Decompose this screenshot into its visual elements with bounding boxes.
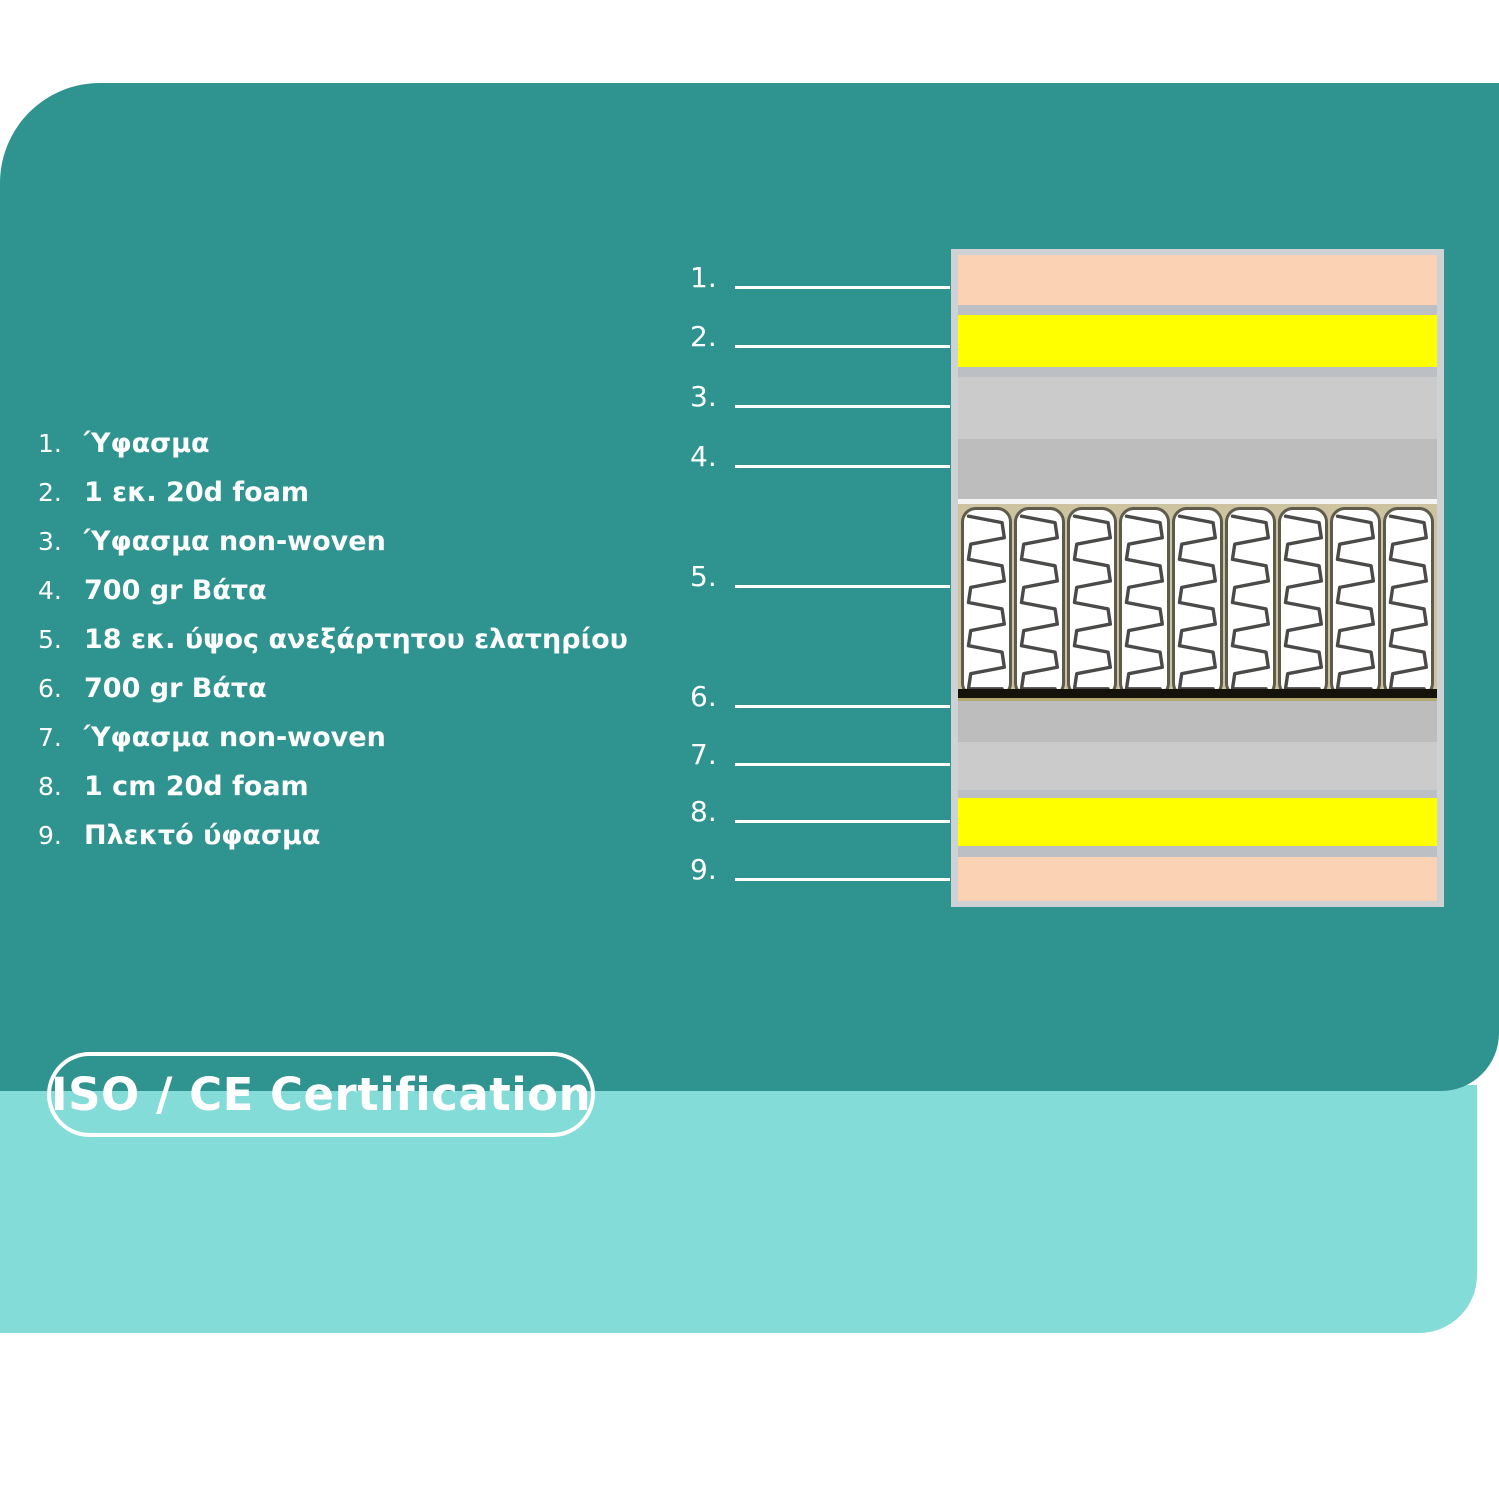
mattress-layer-wadding-top xyxy=(958,439,1437,499)
layer-list-item-number: 5. xyxy=(38,625,84,654)
callout-leader-line xyxy=(735,286,950,289)
layer-list-item-number: 4. xyxy=(38,576,84,605)
mattress-layer-nonwoven-bottom xyxy=(958,742,1437,790)
layer-list-item: 3.Ύφασμα non-woven xyxy=(38,526,638,575)
callout-leader-line xyxy=(735,465,950,468)
mattress-layer-foam-bottom xyxy=(958,798,1437,846)
callout-number: 7. xyxy=(690,741,717,769)
layer-list-item-label: 1 εκ. 20d foam xyxy=(84,477,309,508)
callout-number: 2. xyxy=(690,323,717,351)
callout-leader-line xyxy=(735,820,950,823)
mattress-layer-gap-3 xyxy=(958,790,1437,798)
callout-leader-line xyxy=(735,763,950,766)
mattress-layer-gap-2 xyxy=(958,367,1437,377)
pocket-spring xyxy=(1172,507,1223,698)
coil-spring-icon xyxy=(1228,510,1273,695)
layer-list-item-number: 3. xyxy=(38,527,84,556)
layer-list-item-number: 1. xyxy=(38,429,84,458)
callout-number: 9. xyxy=(690,856,717,884)
pocket-spring xyxy=(1225,507,1276,698)
mattress-layer-pocket-springs xyxy=(958,504,1437,698)
mattress-layer-foam-top xyxy=(958,315,1437,367)
layer-list-item-label: 1 cm 20d foam xyxy=(84,771,309,802)
layer-list-item: 6.700 gr Βάτα xyxy=(38,673,638,722)
pocket-spring xyxy=(1383,507,1434,698)
layer-list-item-number: 6. xyxy=(38,674,84,703)
mattress-cross-section-diagram xyxy=(951,249,1444,907)
callout-leader-line xyxy=(735,705,950,708)
layer-list-item-label: Ύφασμα xyxy=(84,428,210,459)
layer-list-item-label: Ύφασμα non-woven xyxy=(84,722,386,753)
callout-number: 3. xyxy=(690,383,717,411)
layer-list-item-label: Ύφασμα non-woven xyxy=(84,526,386,557)
layer-list-item: 5.18 εκ. ύψος ανεξάρτητου ελατηρίου xyxy=(38,624,638,673)
layer-list-item: 7.Ύφασμα non-woven xyxy=(38,722,638,771)
iso-ce-certification-badge: ISO / CE Certification xyxy=(47,1052,595,1137)
callout-number: 4. xyxy=(690,443,717,471)
layer-list-item-number: 9. xyxy=(38,821,84,850)
layer-list-item: 8.1 cm 20d foam xyxy=(38,771,638,820)
pocket-spring xyxy=(1119,507,1170,698)
pocket-spring xyxy=(961,507,1012,698)
callout-leader-line xyxy=(735,878,950,881)
callout-leader-line xyxy=(735,345,950,348)
infographic-stage: 1.Ύφασμα2.1 εκ. 20d foam3.Ύφασμα non-wov… xyxy=(0,0,1499,1500)
layer-list-item-label: 18 εκ. ύψος ανεξάρτητου ελατηρίου xyxy=(84,624,628,655)
layer-list-item-label: 700 gr Βάτα xyxy=(84,673,267,704)
layer-list-item-number: 7. xyxy=(38,723,84,752)
layer-list: 1.Ύφασμα2.1 εκ. 20d foam3.Ύφασμα non-wov… xyxy=(38,428,638,869)
coil-spring-icon xyxy=(1122,510,1167,695)
iso-ce-certification-label: ISO / CE Certification xyxy=(51,1068,591,1121)
callout-number: 1. xyxy=(690,264,717,292)
callout-number: 6. xyxy=(690,683,717,711)
coil-spring-icon xyxy=(1333,510,1378,695)
spring-base-rail xyxy=(958,689,1437,701)
coil-spring-icon xyxy=(1175,510,1220,695)
mattress-layer-nonwoven-top xyxy=(958,377,1437,439)
layer-list-item: 2.1 εκ. 20d foam xyxy=(38,477,638,526)
mattress-layer-wadding-bottom xyxy=(958,698,1437,742)
pocket-spring xyxy=(1067,507,1118,698)
coil-spring-icon xyxy=(964,510,1009,695)
pocket-spring xyxy=(1330,507,1381,698)
layer-list-item-number: 8. xyxy=(38,772,84,801)
mattress-layer-fabric-top xyxy=(958,255,1437,305)
dark-teal-panel: 1.Ύφασμα2.1 εκ. 20d foam3.Ύφασμα non-wov… xyxy=(0,83,1499,1091)
layer-list-item-number: 2. xyxy=(38,478,84,507)
callout-number: 5. xyxy=(690,563,717,591)
layer-list-item-label: 700 gr Βάτα xyxy=(84,575,267,606)
callout-leader-line xyxy=(735,405,950,408)
pocket-spring xyxy=(1278,507,1329,698)
layer-list-item: 1.Ύφασμα xyxy=(38,428,638,477)
coil-spring-icon xyxy=(1281,510,1326,695)
pocket-spring xyxy=(1014,507,1065,698)
coil-spring-icon xyxy=(1070,510,1115,695)
coil-spring-icon xyxy=(1017,510,1062,695)
layer-list-item: 9.Πλεκτό ύφασμα xyxy=(38,820,638,869)
callout-leader-line xyxy=(735,585,950,588)
layer-list-item-label: Πλεκτό ύφασμα xyxy=(84,820,320,851)
coil-spring-icon xyxy=(1386,510,1431,695)
callout-number: 8. xyxy=(690,798,717,826)
mattress-layer-gap-1 xyxy=(958,305,1437,315)
mattress-layer-gap-4 xyxy=(958,846,1437,857)
layer-list-item: 4.700 gr Βάτα xyxy=(38,575,638,624)
mattress-layer-knit-fabric xyxy=(958,857,1437,901)
